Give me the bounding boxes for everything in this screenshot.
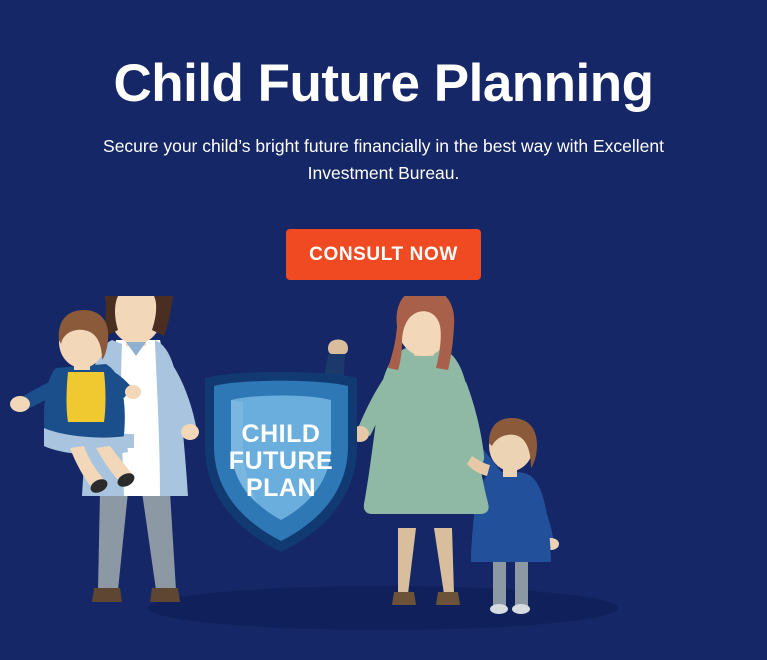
ground-shadow-ellipse xyxy=(148,586,618,630)
page-title: Child Future Planning xyxy=(0,52,767,116)
hero-section: Child Future Planning Secure your child’… xyxy=(0,0,767,660)
family-with-shield-illustration: CHILD FUTURE PLAN xyxy=(0,296,767,660)
shield-badge: CHILD FUTURE PLAN xyxy=(205,372,357,552)
figure-adult-right xyxy=(351,296,490,605)
hero-subheading: Secure your child’s bright future financ… xyxy=(83,133,684,187)
shield-line-2: FUTURE xyxy=(229,447,333,475)
consult-now-button[interactable]: CONSULT NOW xyxy=(286,229,481,280)
shield-line-3: PLAN xyxy=(246,474,316,502)
shield-line-1: CHILD xyxy=(242,420,321,448)
